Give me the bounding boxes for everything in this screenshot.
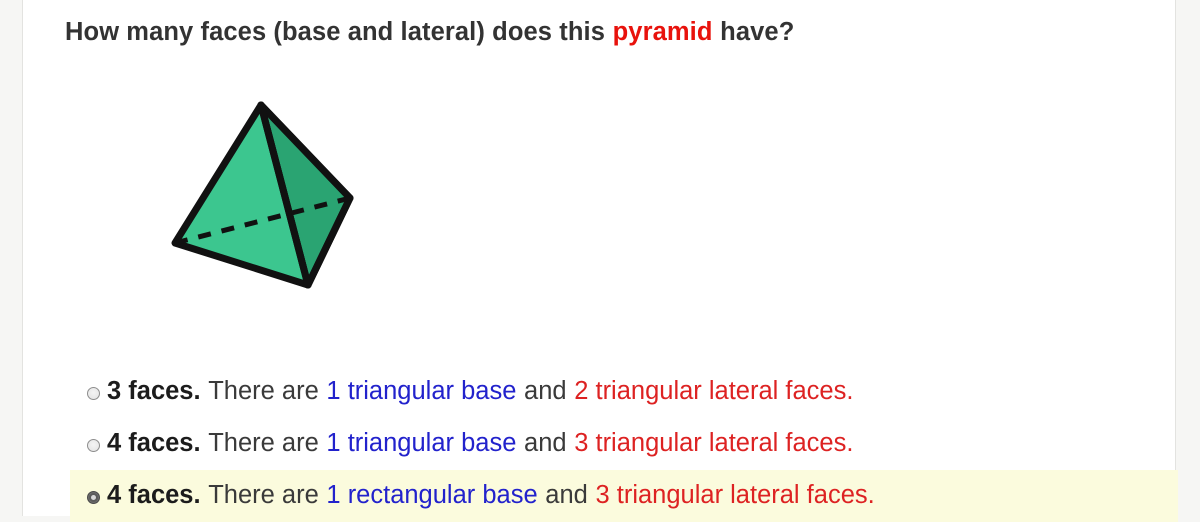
answer-option-2[interactable]: 4 faces.There are1 rectangular baseand3 … [70,470,1178,522]
answer-connector1-1: There are [208,429,319,457]
answer-base-1: 1 triangular base [326,429,516,457]
question-keyword: pyramid [613,18,713,46]
answer-label-2: 4 faces.There are1 rectangular baseand3 … [107,483,875,509]
answer-label-1: 4 faces.There are1 triangular baseand3 t… [107,431,853,457]
question-text: How many faces (base and lateral) does t… [65,18,1125,47]
radio-button-2[interactable] [87,491,100,504]
page-right-margin [1175,0,1200,516]
answer-base-2: 1 rectangular base [326,481,537,509]
answer-options-list: 3 faces.There are1 triangular baseand2 t… [23,366,1175,522]
answer-base-0: 1 triangular base [326,377,516,405]
answer-faces-2: 4 faces. [107,481,201,509]
tetrahedron-svg [133,88,393,308]
answer-option-1[interactable]: 4 faces.There are1 triangular baseand3 t… [23,418,1175,470]
answer-faces-1: 4 faces. [107,429,201,457]
page-left-margin [0,0,23,516]
pyramid-figure [133,88,393,308]
answer-option-0[interactable]: 3 faces.There are1 triangular baseand2 t… [23,366,1175,418]
answer-faces-0: 3 faces. [107,377,201,405]
answer-connector1-2: There are [208,481,319,509]
answer-connector1-0: There are [208,377,319,405]
answer-connector2-2: and [545,481,588,509]
answer-lateral-2: 3 triangular lateral faces. [595,481,874,509]
answer-connector2-0: and [524,377,567,405]
question-prefix: How many faces (base and lateral) does t… [65,18,605,46]
radio-button-0[interactable] [87,387,100,400]
answer-label-0: 3 faces.There are1 triangular baseand2 t… [107,379,853,405]
answer-connector2-1: and [524,429,567,457]
answer-lateral-1: 3 triangular lateral faces. [574,429,853,457]
answer-lateral-0: 2 triangular lateral faces. [574,377,853,405]
quiz-page: How many faces (base and lateral) does t… [0,0,1200,516]
question-suffix: have? [720,18,794,46]
radio-button-1[interactable] [87,439,100,452]
content-area: How many faces (base and lateral) does t… [23,0,1175,516]
